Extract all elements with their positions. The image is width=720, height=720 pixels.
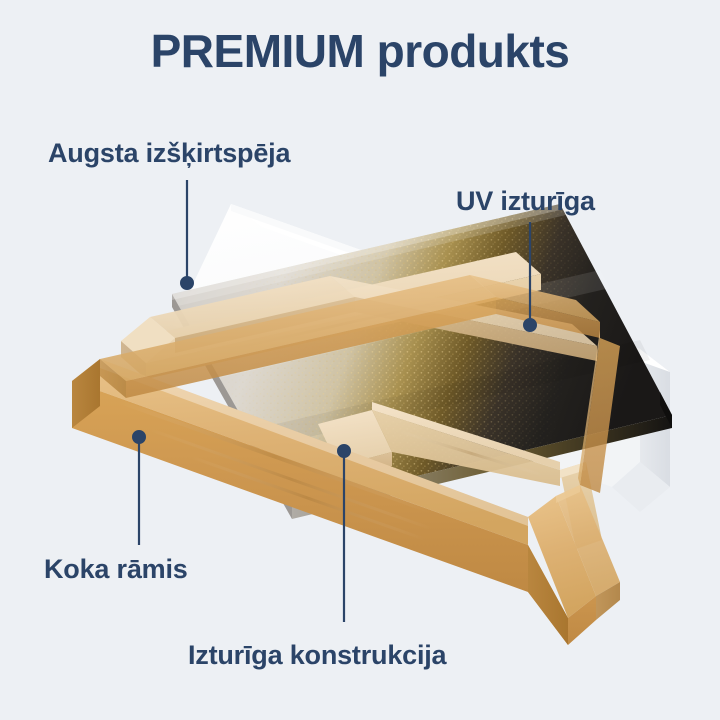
leader-dot-uv <box>524 319 537 332</box>
callout-label-construction: Izturīga konstrukcija <box>188 640 446 671</box>
exploded-product-illustration <box>0 0 720 720</box>
page-title: PREMIUM produkts <box>0 24 720 78</box>
leader-dot-wood-frame <box>133 431 146 444</box>
product-infographic: PREMIUM produkts Augsta izšķirtspēja UV … <box>0 0 720 720</box>
leader-dot-resolution <box>181 277 194 290</box>
callout-label-wood-frame: Koka rāmis <box>44 554 188 585</box>
leader-dot-construction <box>338 445 351 458</box>
callout-label-uv: UV izturīga <box>456 186 595 217</box>
callout-label-resolution: Augsta izšķirtspēja <box>48 138 290 169</box>
